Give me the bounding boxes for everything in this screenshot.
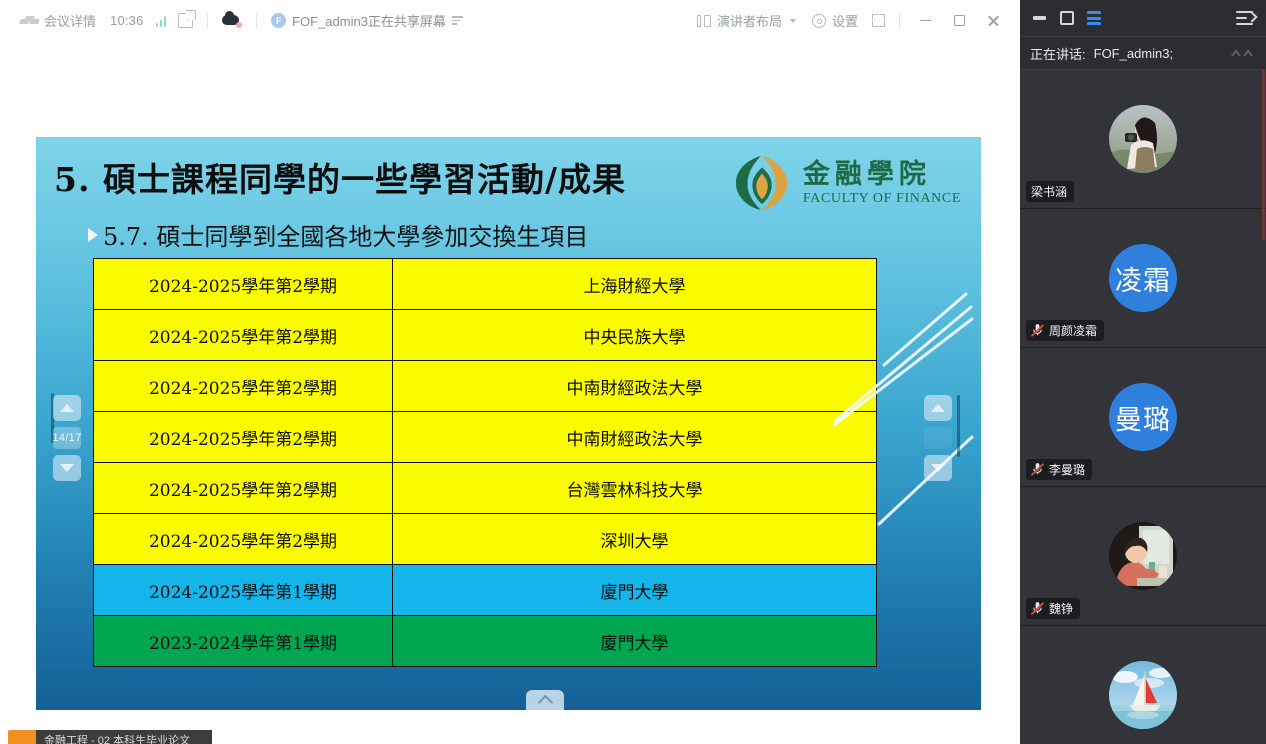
window-maximize-button[interactable]	[942, 6, 976, 36]
avatar-photo	[1109, 661, 1177, 729]
mic-muted-icon	[1031, 602, 1044, 615]
screen-share-status[interactable]: F FOF_admin3正在共享屏幕	[265, 7, 469, 35]
app-logo-icon	[20, 15, 38, 27]
taskbar-strip: 金融工程 - 02 本科生毕业论文	[0, 726, 1020, 744]
meeting-timer: 10:36	[104, 7, 150, 35]
faculty-of-finance-logo-icon	[732, 154, 794, 212]
participant-tile[interactable]	[1020, 626, 1266, 744]
divider	[899, 13, 900, 29]
table-cell-university: 中央民族大學	[393, 310, 877, 361]
slide-title: 5. 碩士課程同學的一些學習活動/成果	[54, 153, 626, 201]
meeting-info-label: 会议详情	[44, 11, 96, 30]
participant-name-badge: 魏铮	[1026, 598, 1080, 619]
participant-name: 李曼璐	[1049, 461, 1085, 478]
divider	[207, 13, 208, 29]
cloud-icon	[222, 14, 242, 28]
table-row: 2024-2025學年第1學期廈門大學	[94, 565, 877, 616]
slide-subtitle: 5.7. 碩士同學到全國各地大學參加交換生項目	[88, 217, 588, 252]
settings-label: 设置	[832, 11, 858, 30]
shared-screen-stage: 5. 碩士課程同學的一些學習活動/成果 5.7. 碩士同學到全國各地大學參加交換…	[0, 41, 1020, 726]
participant-tile[interactable]: 魏铮	[1020, 487, 1266, 626]
table-cell-term: 2024-2025學年第2學期	[94, 361, 393, 412]
meeting-window: 会议详情 10:36 F FOF_admin3正在共享屏幕	[0, 0, 1266, 744]
avatar-photo	[1109, 522, 1177, 590]
sidebar-header	[1020, 0, 1266, 36]
participant-name: 魏铮	[1049, 600, 1073, 617]
divider	[256, 13, 257, 29]
participant-tile[interactable]: 梁书涵	[1020, 70, 1266, 209]
sidebar-minimize-icon	[1033, 16, 1046, 20]
app-watermark-icon	[1230, 46, 1256, 60]
nav-prev-slide-button-right[interactable]	[924, 395, 952, 421]
sidebar-collapse-button[interactable]	[1236, 9, 1256, 27]
bullet-triangle-icon	[88, 228, 98, 242]
window-close-button[interactable]	[976, 6, 1010, 36]
avatar-initials: 曼璐	[1109, 383, 1177, 451]
minimize-icon	[920, 20, 931, 22]
active-speaker-bar: 正在讲话: FOF_admin3;	[1020, 36, 1266, 70]
participants-list[interactable]: 梁书涵凌霜周颜凌霜曼璐李曼璐魏铮	[1020, 70, 1266, 744]
participant-tile[interactable]: 凌霜周颜凌霜	[1020, 209, 1266, 348]
avatar-photo	[1109, 105, 1177, 173]
table-row: 2023-2024學年第1學期廈門大學	[94, 616, 877, 667]
gear-icon	[812, 14, 826, 28]
avatar-initials: 凌霜	[1109, 244, 1177, 312]
table-row: 2024-2025學年第2學期上海財經大學	[94, 259, 877, 310]
table-cell-term: 2023-2024學年第1學期	[94, 616, 393, 667]
table-body: 2024-2025學年第2學期上海財經大學2024-2025學年第2學期中央民族…	[94, 259, 877, 667]
mic-muted-icon	[1031, 324, 1044, 337]
share-external-button[interactable]	[172, 7, 199, 35]
faculty-logo-text: 金融學院 FACULTY OF FINANCE	[803, 161, 961, 206]
table-cell-university: 深圳大學	[393, 514, 877, 565]
close-icon	[987, 15, 999, 27]
speaker-layout-label: 演讲者布局	[717, 11, 782, 30]
slide-page-indicator-right	[924, 427, 952, 449]
presenter-avatar: F	[271, 13, 286, 28]
table-cell-university: 中南財經政法大學	[393, 361, 877, 412]
table-cell-term: 2024-2025學年第2學期	[94, 412, 393, 463]
taskbar-item-label: 金融工程 - 02 本科生毕业论文	[44, 732, 190, 744]
fullscreen-icon	[872, 14, 885, 27]
nav-next-slide-button-right[interactable]	[924, 455, 952, 481]
table-cell-university: 廈門大學	[393, 616, 877, 667]
participant-name-badge: 梁书涵	[1026, 181, 1074, 202]
taskbar-app-icon[interactable]	[8, 730, 36, 744]
sidebar-gallery-layout-icon	[1087, 11, 1101, 25]
network-quality-button[interactable]	[150, 7, 173, 35]
top-bar-right-group: 演讲者布局 设置	[689, 6, 1020, 36]
chevron-down-icon	[790, 19, 796, 23]
participant-tile[interactable]: 曼璐李曼璐	[1020, 348, 1266, 487]
more-list-icon[interactable]	[452, 16, 463, 25]
presentation-slide[interactable]: 5. 碩士課程同學的一些學習活動/成果 5.7. 碩士同學到全國各地大學參加交換…	[36, 137, 981, 710]
settings-button[interactable]: 设置	[804, 7, 866, 35]
table-cell-university: 廈門大學	[393, 565, 877, 616]
participant-name-badge: 周颜凌霜	[1026, 320, 1104, 341]
top-bar-left-group: 会议详情 10:36 F FOF_admin3正在共享屏幕	[0, 7, 469, 35]
meeting-info-button[interactable]: 会议详情	[12, 7, 104, 35]
signal-bars-icon	[156, 15, 167, 27]
table-row: 2024-2025學年第2學期台灣雲林科技大學	[94, 463, 877, 514]
table-cell-term: 2024-2025學年第2學期	[94, 259, 393, 310]
layout-icon	[697, 15, 711, 27]
table-row: 2024-2025學年第2學期中南財經政法大學	[94, 361, 877, 412]
exchange-program-table: 2024-2025學年第2學期上海財經大學2024-2025學年第2學期中央民族…	[93, 258, 877, 667]
meeting-time: 10:36	[110, 13, 144, 28]
participant-name-badge: 李曼璐	[1026, 459, 1092, 480]
sidebar-minimize-button[interactable]	[1030, 9, 1049, 28]
sharing-status-label: FOF_admin3正在共享屏幕	[292, 11, 446, 30]
faculty-name-en: FACULTY OF FINANCE	[803, 192, 961, 206]
slide-page-indicator: 14/17	[53, 427, 81, 449]
mic-muted-icon	[1031, 463, 1044, 476]
faculty-logo: 金融學院 FACULTY OF FINANCE	[732, 154, 961, 212]
table-row: 2024-2025學年第2學期中央民族大學	[94, 310, 877, 361]
participants-sidebar: 正在讲话: FOF_admin3; 梁书涵凌霜周颜凌霜曼璐李曼璐魏铮	[1020, 0, 1266, 744]
table-cell-term: 2024-2025學年第2學期	[94, 463, 393, 514]
participant-name: 周颜凌霜	[1049, 322, 1097, 339]
participant-name: 梁书涵	[1031, 183, 1067, 200]
slide-scroll-rail-right[interactable]	[957, 395, 960, 457]
sidebar-maximize-icon	[1060, 11, 1074, 25]
sidebar-gallery-layout-button[interactable]	[1084, 9, 1103, 28]
nav-prev-slide-button[interactable]	[53, 395, 81, 421]
speaker-layout-button[interactable]: 演讲者布局	[689, 7, 804, 35]
table-row: 2024-2025學年第2學期深圳大學	[94, 514, 877, 565]
expand-toolbar-button[interactable]	[526, 690, 564, 710]
slide-subtitle-text: 5.7. 碩士同學到全國各地大學參加交換生項目	[103, 223, 588, 251]
table-cell-term: 2024-2025學年第1學期	[94, 565, 393, 616]
window-minimize-button[interactable]	[908, 6, 942, 36]
speaking-label: 正在讲话:	[1030, 44, 1086, 63]
table-cell-university: 中南財經政法大學	[393, 412, 877, 463]
table-cell-university: 台灣雲林科技大學	[393, 463, 877, 514]
faculty-name-cn: 金融學院	[803, 161, 961, 188]
maximize-icon	[954, 15, 965, 26]
weather-widget[interactable]	[216, 7, 248, 35]
window-top-bar: 会议详情 10:36 F FOF_admin3正在共享屏幕	[0, 0, 1020, 42]
nav-next-slide-button[interactable]	[53, 455, 81, 481]
table-cell-term: 2024-2025學年第2學期	[94, 310, 393, 361]
table-cell-university: 上海財經大學	[393, 259, 877, 310]
table-row: 2024-2025學年第2學期中南財經政法大學	[94, 412, 877, 463]
table-cell-term: 2024-2025學年第2學期	[94, 514, 393, 565]
sidebar-maximize-button[interactable]	[1057, 9, 1076, 28]
participants-scrollbar[interactable]	[1262, 70, 1265, 240]
share-external-icon	[178, 13, 193, 28]
fullscreen-button[interactable]	[866, 7, 891, 35]
speaking-name: FOF_admin3;	[1094, 46, 1173, 61]
